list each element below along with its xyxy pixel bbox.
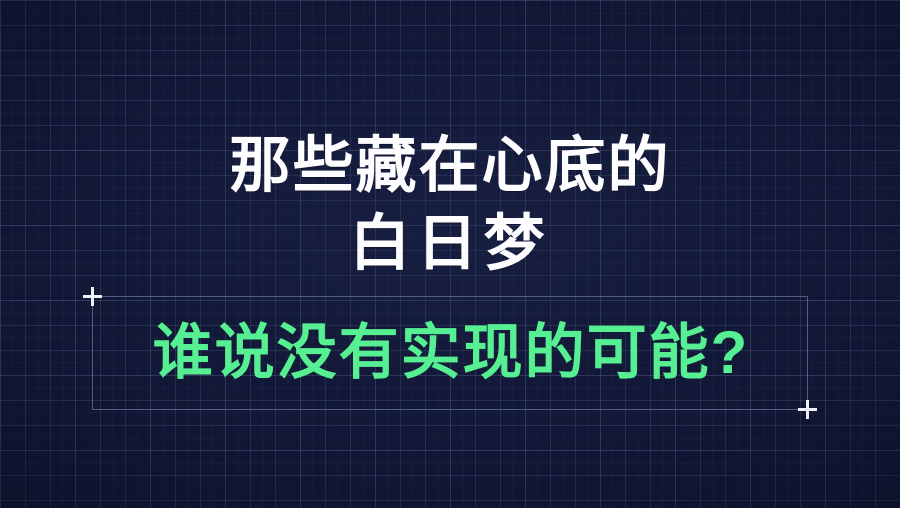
headline: 那些藏在心底的 白日梦 <box>0 126 900 282</box>
accent-subline: 谁说没有实现的可能? <box>1 323 900 383</box>
plus-mark-icon-bottom-right <box>798 400 817 419</box>
poster-canvas: 那些藏在心底的 白日梦 谁说没有实现的可能? <box>0 0 900 508</box>
accent-frame: 谁说没有实现的可能? <box>92 296 808 410</box>
plus-mark-icon-top-left <box>83 287 102 306</box>
headline-line-2: 白日梦 <box>0 204 900 282</box>
headline-line-1: 那些藏在心底的 <box>0 126 900 204</box>
